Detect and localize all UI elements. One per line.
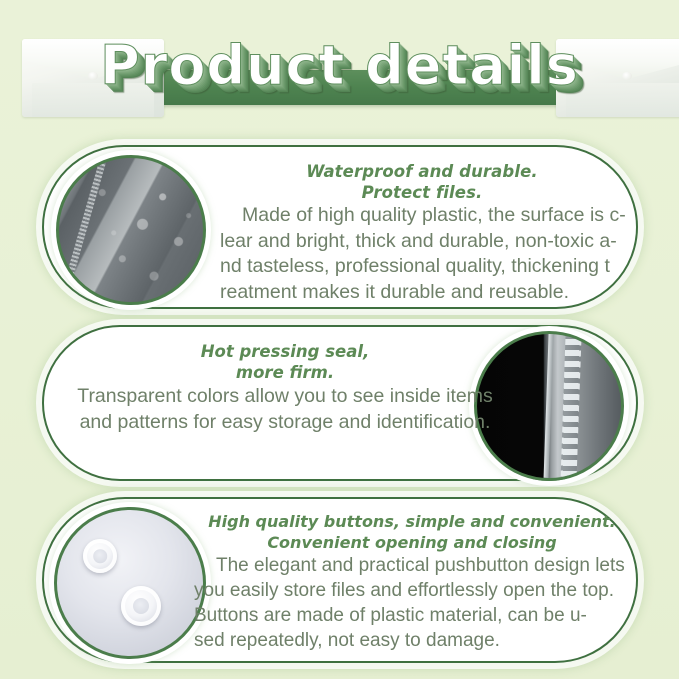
feature-card-pushbuttons: High quality buttons, simple and conveni…: [42, 497, 638, 663]
card-3-heading-line-2: Convenient opening and closing: [194, 532, 630, 553]
card-3-paragraph-line-4: sed repeatedly, not easy to damage.: [194, 628, 630, 653]
card-2-paragraph-line-2: and patterns for easy storage and identi…: [54, 409, 516, 435]
snap-button-bottom: [121, 586, 161, 626]
seal-rail: [543, 331, 554, 481]
card-3-paragraph-line-2: you easily store files and effortlessly …: [194, 578, 630, 603]
card-3-paragraph-line-1: The elegant and practical pushbutton des…: [194, 553, 630, 578]
feature-card-hot-pressing-seal: Hot pressing seal, more firm. Transparen…: [42, 325, 638, 481]
card-1-paragraph-line-4: reatment makes it durable and reusable.: [220, 280, 624, 306]
card-2-paragraph-line-1: Transparent colors allow you to see insi…: [54, 383, 516, 409]
card-3-paragraph: The elegant and practical pushbutton des…: [194, 553, 630, 653]
card-3-heading-line-1: High quality buttons, simple and conveni…: [194, 511, 630, 532]
snap-button-top: [83, 539, 117, 573]
card-1-paragraph-line-3: nd tasteless, professional quality, thic…: [220, 254, 624, 280]
header: Product details: [0, 0, 679, 135]
card-1-text-block: Waterproof and durable. Protect files. M…: [220, 161, 624, 305]
seal-weld-marks: [561, 331, 583, 481]
card-1-heading-line-2: Protect files.: [220, 182, 624, 203]
product-details-infographic: Product details Waterproof and durable. …: [0, 0, 679, 679]
card-2-text-block: Hot pressing seal, more firm. Transparen…: [54, 341, 516, 435]
waterproof-droplets-photo: [56, 155, 206, 305]
pushbutton-snap-photo: [54, 507, 206, 659]
card-1-paragraph: Made of high quality plastic, the surfac…: [220, 203, 624, 305]
feature-card-waterproof: Waterproof and durable. Protect files. M…: [42, 145, 638, 309]
card-3-text-block: High quality buttons, simple and conveni…: [194, 511, 630, 653]
card-1-paragraph-line-1: Made of high quality plastic, the surfac…: [220, 203, 624, 229]
page-title: Product details: [0, 33, 679, 99]
card-1-paragraph-line-2: lear and bright, thick and durable, non-…: [220, 229, 624, 255]
card-3-paragraph-line-3: Buttons are made of plastic material, ca…: [194, 603, 630, 628]
card-2-heading-line-2: more firm.: [54, 362, 516, 383]
zipper-strip: [56, 155, 108, 305]
card-2-paragraph: Transparent colors allow you to see insi…: [54, 383, 516, 435]
card-2-heading-line-1: Hot pressing seal,: [54, 341, 516, 362]
card-1-heading-line-1: Waterproof and durable.: [220, 161, 624, 182]
